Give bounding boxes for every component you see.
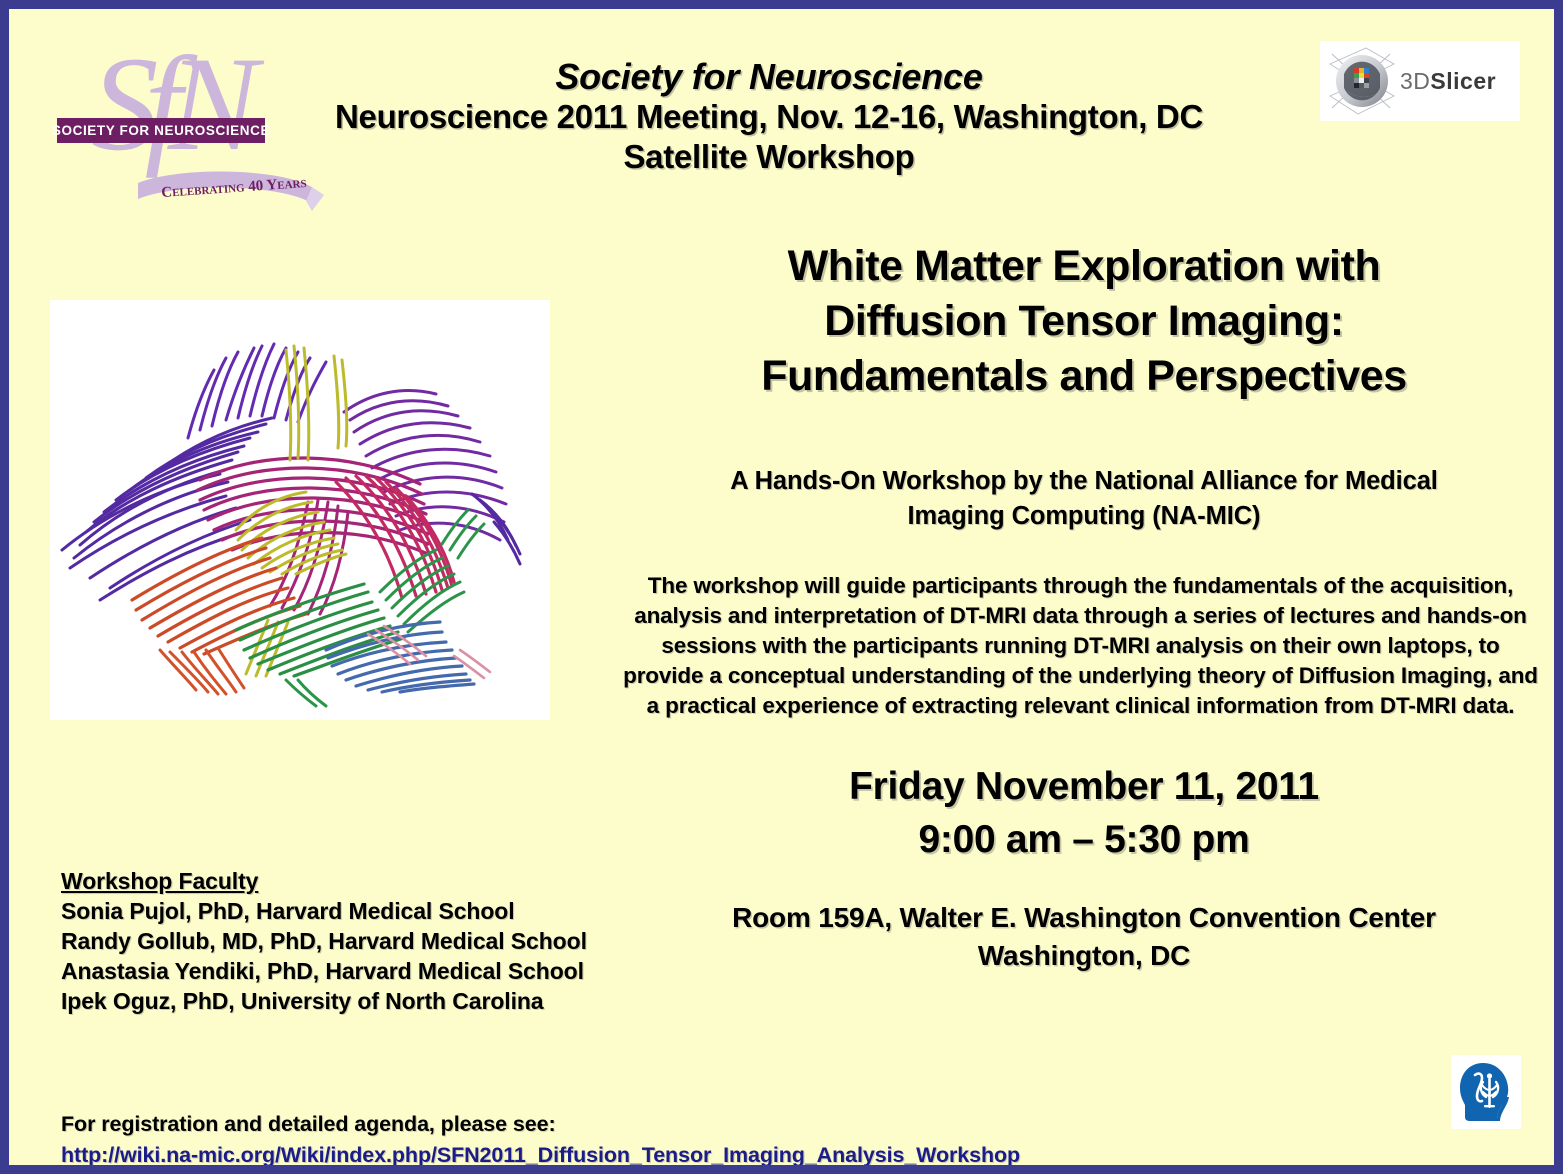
header-text-block: Society for Neuroscience Neuroscience 20…	[269, 57, 1269, 177]
slicer-sphere-icon	[1324, 44, 1400, 118]
sfn-logo-bar: SOCIETY FOR NEUROSCIENCE	[57, 118, 265, 143]
title-line-3: Fundamentals and Perspectives	[639, 349, 1529, 404]
workshop-time: 9:00 am – 5:30 pm	[639, 814, 1529, 867]
workshop-title: White Matter Exploration with Diffusion …	[639, 239, 1529, 404]
namic-logo	[1451, 1055, 1521, 1129]
title-line-1: White Matter Exploration with	[639, 239, 1529, 294]
workshop-date: Friday November 11, 2011	[639, 761, 1529, 814]
faculty-member: Ipek Oguz, PhD, University of North Caro…	[61, 987, 681, 1017]
faculty-block: Workshop Faculty Sonia Pujol, PhD, Harva…	[61, 867, 681, 1016]
subtitle-line-1: A Hands-On Workshop by the National Alli…	[639, 464, 1529, 499]
venue-line-2: Washington, DC	[639, 937, 1529, 975]
registration-note: For registration and detailed agenda, pl…	[61, 1109, 1261, 1140]
header-meeting-info: Neuroscience 2011 Meeting, Nov. 12-16, W…	[269, 97, 1269, 137]
poster-canvas: SfN SOCIETY FOR NEUROSCIENCE Celebrating…	[9, 9, 1554, 1165]
footer-block: For registration and detailed agenda, pl…	[61, 1109, 1261, 1165]
namic-head-icon	[1457, 1061, 1515, 1123]
workshop-venue: Room 159A, Walter E. Washington Conventi…	[639, 899, 1529, 975]
slicer-logo: 3DSlicer	[1320, 41, 1520, 121]
faculty-member: Anastasia Yendiki, PhD, Harvard Medical …	[61, 957, 681, 987]
tractography-image	[50, 300, 550, 720]
sfn-monogram: SfN	[91, 37, 244, 172]
faculty-member: Sonia Pujol, PhD, Harvard Medical School	[61, 897, 681, 927]
workshop-datetime: Friday November 11, 2011 9:00 am – 5:30 …	[639, 761, 1529, 866]
subtitle-line-2: Imaging Computing (NA-MIC)	[639, 499, 1529, 534]
title-line-2: Diffusion Tensor Imaging:	[639, 294, 1529, 349]
slicer-text-suffix: Slicer	[1430, 68, 1496, 94]
venue-line-1: Room 159A, Walter E. Washington Conventi…	[639, 899, 1529, 937]
tractography-figure	[50, 300, 550, 720]
faculty-heading: Workshop Faculty	[61, 867, 681, 897]
sfn-logo-bar-text: SOCIETY FOR NEUROSCIENCE	[52, 123, 270, 138]
workshop-subtitle: A Hands-On Workshop by the National Alli…	[639, 464, 1529, 534]
faculty-member: Randy Gollub, MD, PhD, Harvard Medical S…	[61, 927, 681, 957]
slicer-text-prefix: 3D	[1400, 68, 1430, 94]
header-society-name: Society for Neuroscience	[269, 57, 1269, 97]
workshop-description: The workshop will guide participants thr…	[623, 571, 1538, 721]
workshop-url-link[interactable]: http://wiki.na-mic.org/Wiki/index.php/SF…	[61, 1140, 1261, 1165]
slicer-wordmark: 3DSlicer	[1400, 68, 1496, 95]
header-workshop-type: Satellite Workshop	[269, 137, 1269, 177]
